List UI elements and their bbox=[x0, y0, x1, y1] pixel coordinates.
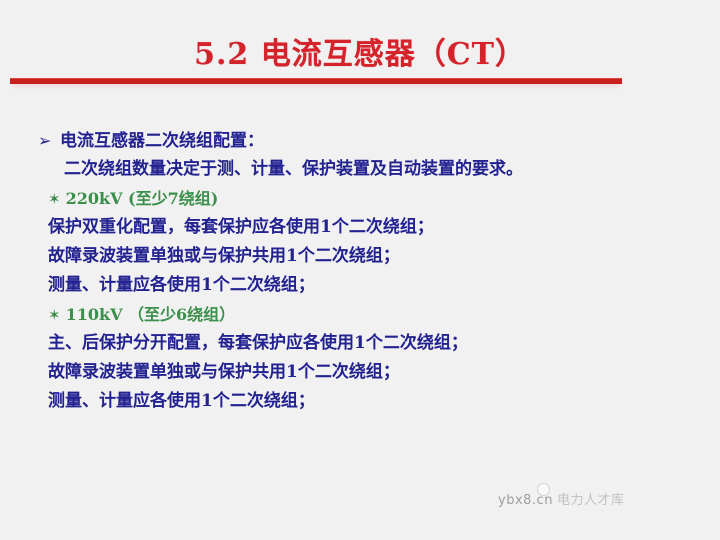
bullet-arrow-icon: ➢ bbox=[38, 126, 60, 155]
section-220kv-line-2: 故障录波装置单独或与保护共用1个二次绕组； bbox=[38, 242, 688, 271]
section-110kv-line-1: 主、后保护分开配置，每套保护应各使用1个二次绕组； bbox=[38, 329, 688, 358]
heading-text: 电流互感器二次绕组配置： bbox=[60, 127, 264, 156]
section-label-220kv: ✶220kV (至少7绕组) bbox=[38, 184, 688, 213]
section-label-220kv-text: 220kV (至少7绕组) bbox=[66, 184, 219, 213]
subheading-line: 二次绕组数量决定于测、计量、保护装置及自动装置的要求。 bbox=[38, 155, 688, 184]
title-divider bbox=[10, 78, 622, 84]
section-110kv-line-3: 测量、计量应各使用1个二次绕组； bbox=[38, 387, 688, 416]
section-label-110kv: ✶110kV （至少6绕组） bbox=[38, 300, 688, 329]
page-title: 5.2 电流互感器（CT） bbox=[194, 36, 526, 74]
section-label-110kv-text: 110kV （至少6绕组） bbox=[66, 300, 236, 329]
title-block: 5.2 电流互感器（CT） bbox=[0, 36, 720, 74]
section-110kv-line-2: 故障录波装置单独或与保护共用1个二次绕组； bbox=[38, 358, 688, 387]
watermark-domain: ybx8.cn bbox=[498, 493, 553, 508]
heading-line: ➢电流互感器二次绕组配置： bbox=[38, 126, 688, 155]
slide-body: ➢电流互感器二次绕组配置： 二次绕组数量决定于测、计量、保护装置及自动装置的要求… bbox=[38, 126, 688, 416]
green-star-icon: ✶ bbox=[48, 185, 61, 214]
watermark-name: 电力人才库 bbox=[557, 493, 625, 508]
subheading-text: 二次绕组数量决定于测、计量、保护装置及自动装置的要求。 bbox=[64, 159, 523, 179]
watermark: ybx8.cn电力人才库 bbox=[498, 489, 624, 508]
section-220kv-line-1: 保护双重化配置，每套保护应各使用1个二次绕组； bbox=[38, 213, 688, 242]
section-220kv-line-3: 测量、计量应各使用1个二次绕组； bbox=[38, 271, 688, 300]
slide-canvas: 5.2 电流互感器（CT） ➢电流互感器二次绕组配置： 二次绕组数量决定于测、计… bbox=[0, 0, 720, 540]
green-star-icon: ✶ bbox=[48, 301, 61, 330]
